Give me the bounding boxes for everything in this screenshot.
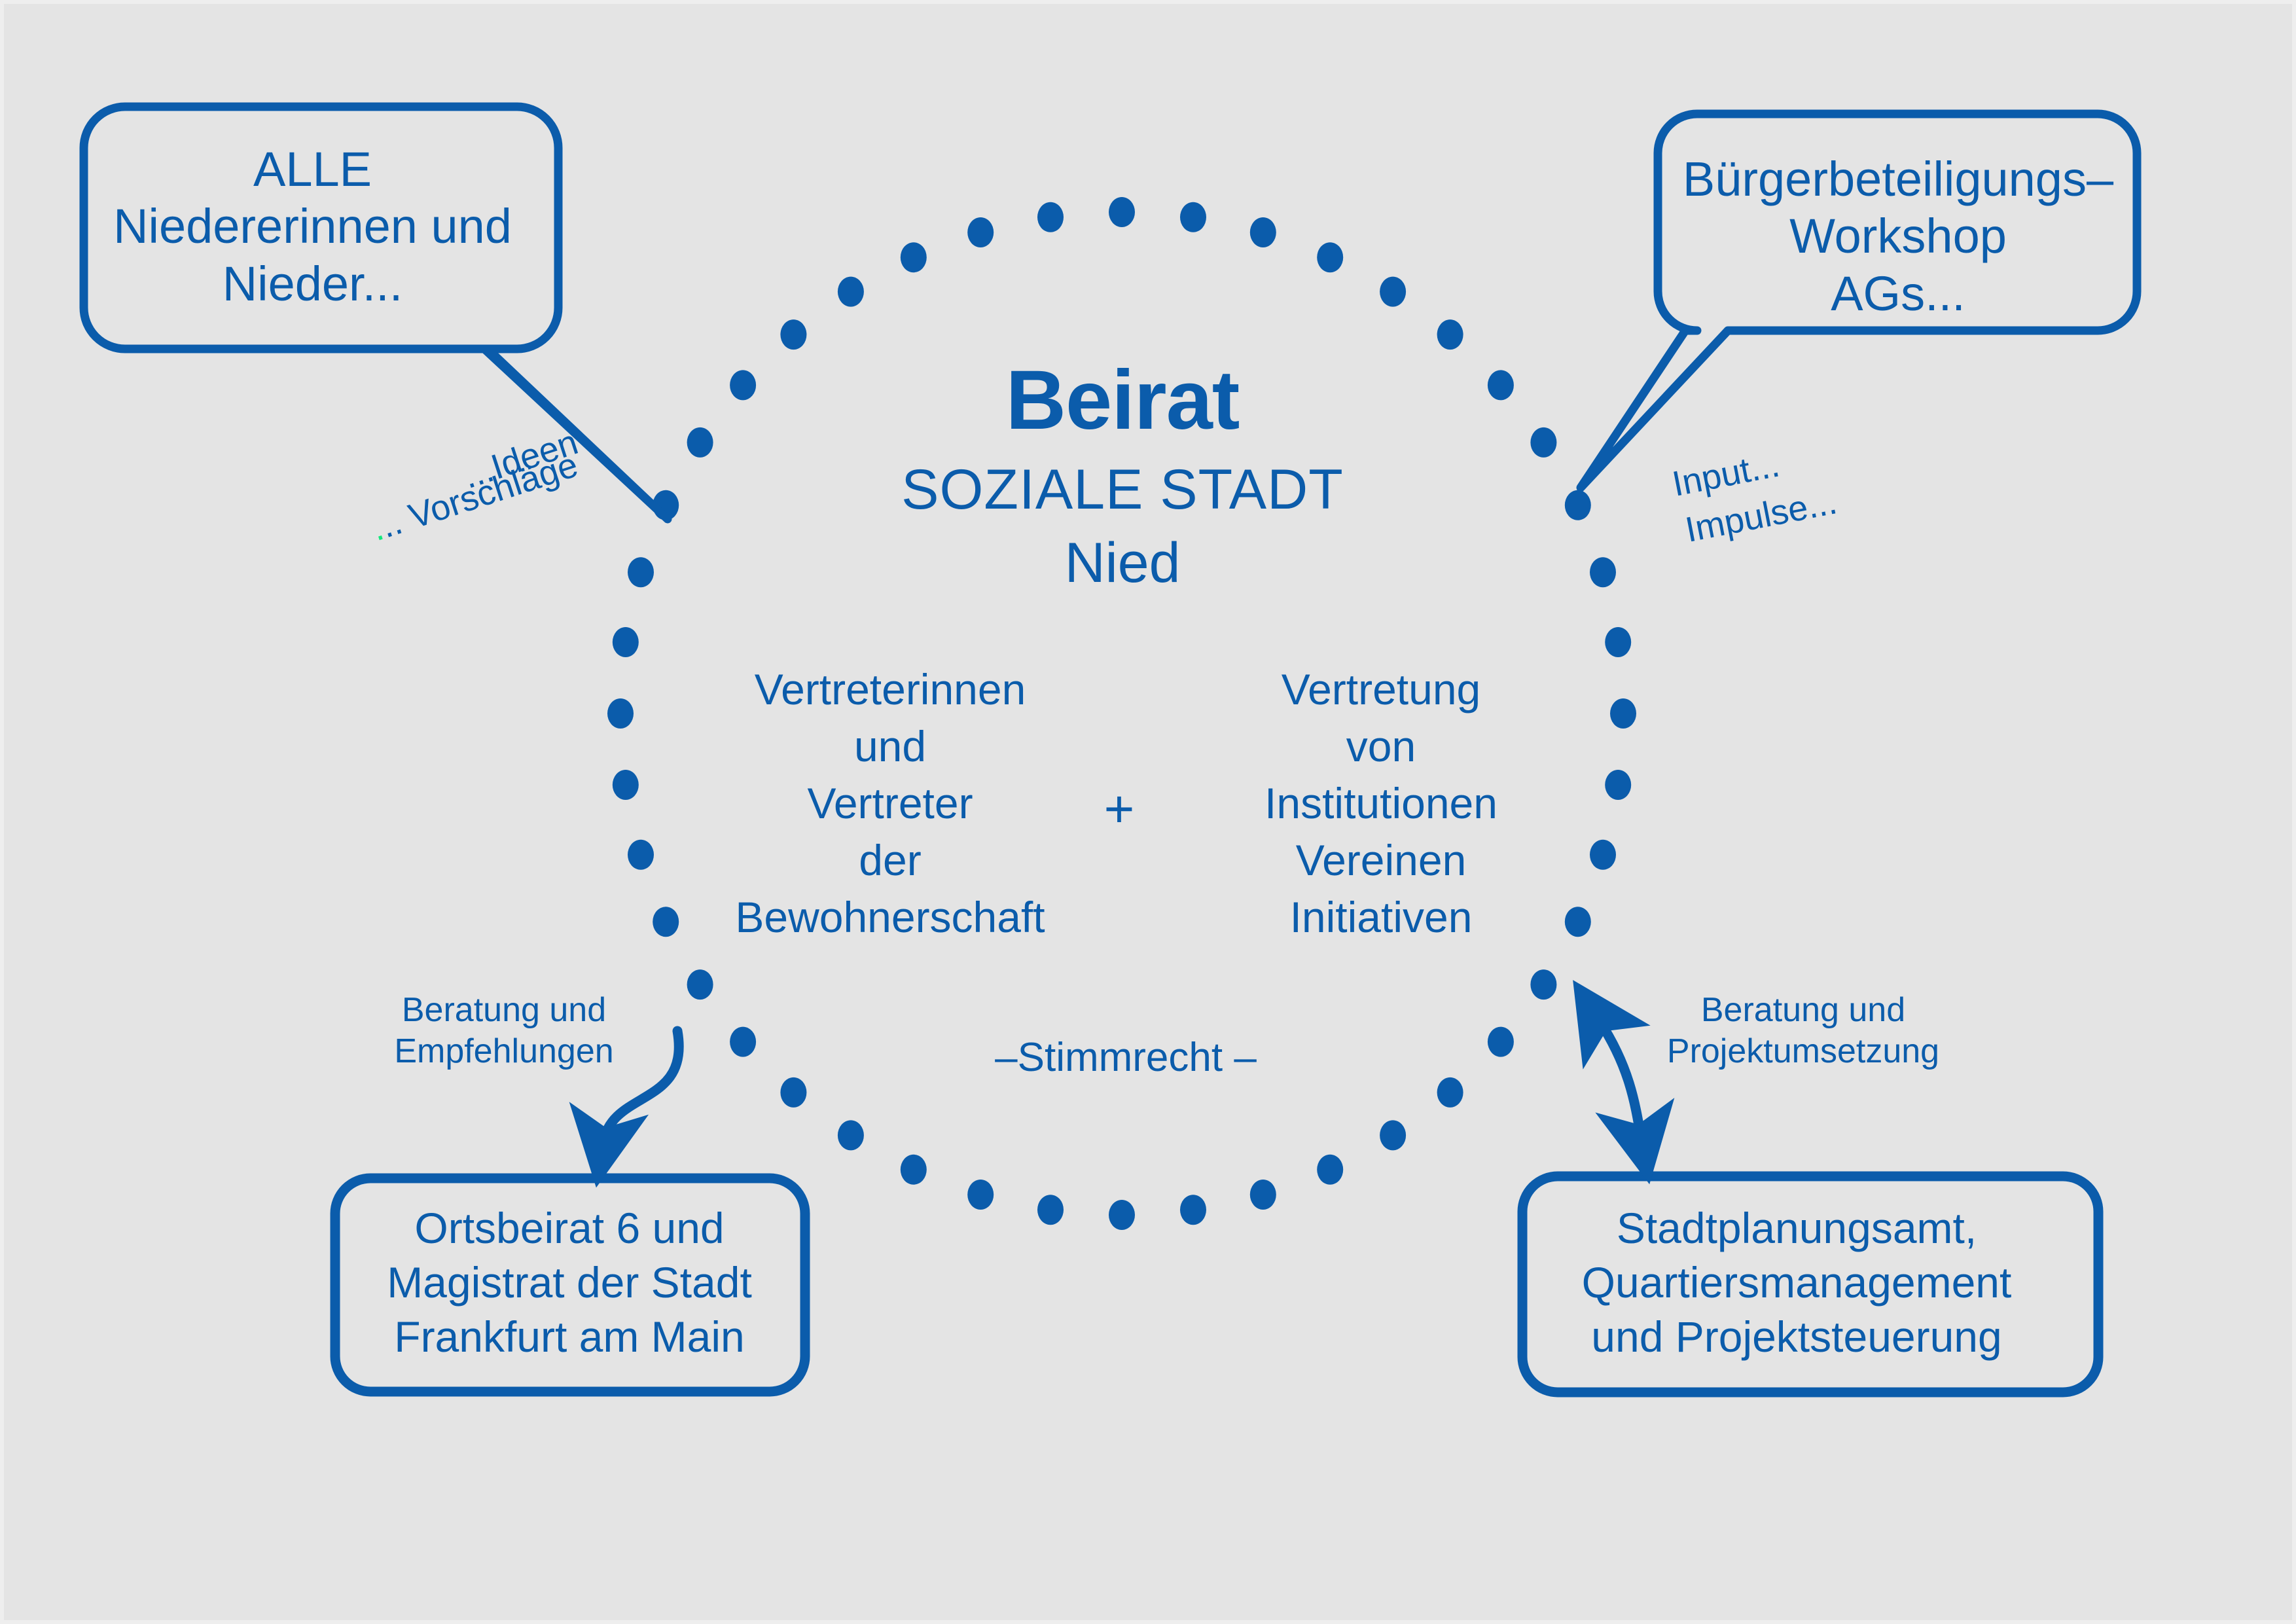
circle-dot (1380, 277, 1406, 307)
voting-rights-note: –Stimmrecht – (903, 1034, 1348, 1081)
box-ortsbeirat-text: Ortsbeirat 6 und Magistrat der Stadt Fra… (340, 1201, 798, 1364)
arrow-beratung-projektumsetzung (1600, 1021, 1644, 1155)
circle-dot (1109, 197, 1135, 227)
col-left-line-3: Vertreter (674, 775, 1106, 832)
circle-dot (1037, 202, 1064, 232)
circle-dot (1437, 1077, 1463, 1108)
ann-br-line-2: Projektumsetzung (1640, 1031, 1967, 1072)
col-right-line-3: Institutionen (1178, 775, 1584, 832)
bubble-tl-line-3: Nieder... (105, 255, 520, 312)
circle-dot (1488, 370, 1514, 400)
bubble-text-top-right: Bürgerbeteiligungs– Workshop AGs... (1676, 151, 2121, 322)
circle-dot (1180, 202, 1206, 232)
subtitle-nied: Nied (795, 532, 1450, 594)
circle-dot (1488, 1027, 1514, 1057)
circle-dot (1180, 1195, 1206, 1225)
box-right-line-2: Quartiersmanagement (1525, 1255, 2068, 1310)
bubble-tr-line-1: Bürgerbeteiligungs– (1676, 151, 2121, 208)
circle-dot (687, 427, 713, 458)
ann-bl-line-2: Empfehlungen (367, 1031, 641, 1072)
box-right-line-1: Stadtplanungsamt, (1525, 1201, 2068, 1255)
circle-dot (1037, 1195, 1064, 1225)
column-bewohnerschaft: Vertreterinnen und Vertreter der Bewohne… (674, 661, 1106, 947)
circle-dot (1317, 242, 1343, 272)
circle-dot (1605, 770, 1631, 800)
box-left-line-3: Frankfurt am Main (340, 1310, 798, 1364)
circle-dot (1530, 969, 1556, 1000)
circle-dot (687, 969, 713, 1000)
circle-dot (1250, 1180, 1276, 1210)
bubble-tl-line-2: Niedererinnen und (105, 198, 520, 255)
column-institutionen: Vertretung von Institutionen Vereinen In… (1178, 661, 1584, 947)
circle-dot (1590, 840, 1616, 870)
circle-dot (628, 840, 654, 870)
col-left-line-1: Vertreterinnen (674, 661, 1106, 718)
col-right-line-4: Vereinen (1178, 832, 1584, 889)
col-left-line-2: und (674, 718, 1106, 775)
bubble-tr-line-3: AGs... (1676, 265, 2121, 322)
bubble-text-top-left: ALLE Niedererinnen und Nieder... (105, 141, 520, 312)
circle-dot (838, 277, 864, 307)
ann-bl-line-1: Beratung und (367, 990, 641, 1031)
annotation-beratung-projektumsetzung: Beratung und Projektumsetzung (1640, 990, 1967, 1073)
plus-sign: + (1080, 779, 1158, 839)
circle-dot (1109, 1200, 1135, 1230)
circle-dot (1250, 217, 1276, 247)
circle-dot (613, 770, 639, 800)
circle-dot (1590, 557, 1616, 587)
circle-dot (1317, 1155, 1343, 1185)
page-title: Beirat (795, 353, 1450, 447)
box-left-line-1: Ortsbeirat 6 und (340, 1201, 798, 1255)
circle-dot (901, 242, 927, 272)
diagram-canvas: ALLE Niedererinnen und Nieder... Bürgerb… (0, 0, 2296, 1624)
circle-dot (1605, 627, 1631, 657)
bubble-tr-line-2: Workshop (1676, 208, 2121, 264)
circle-dot (628, 557, 654, 587)
col-left-line-5: Bewohnerschaft (674, 889, 1106, 946)
circle-dot (967, 1180, 994, 1210)
circle-dot (1565, 490, 1591, 520)
subtitle-soziale-stadt: SOZIALE STADT (795, 458, 1450, 521)
circle-dot (838, 1120, 864, 1150)
circle-dot (1380, 1120, 1406, 1150)
circle-dot (780, 1077, 806, 1108)
annotation-beratung-empfehlungen: Beratung und Empfehlungen (367, 990, 641, 1073)
circle-dot (1437, 319, 1463, 350)
box-stadtplanungsamt-text: Stadtplanungsamt, Quartiersmanagement un… (1525, 1201, 2068, 1364)
circle-dot (780, 319, 806, 350)
circle-dot (607, 698, 634, 729)
circle-dot (1610, 698, 1636, 729)
circle-dot (730, 1027, 756, 1057)
circle-dot (1530, 427, 1556, 458)
circle-dot (967, 217, 994, 247)
col-right-line-2: von (1178, 718, 1584, 775)
circle-dot (730, 370, 756, 400)
bubble-tl-line-1: ALLE (105, 141, 520, 198)
col-right-line-5: Initiativen (1178, 889, 1584, 946)
circle-dot (901, 1155, 927, 1185)
col-right-line-1: Vertretung (1178, 661, 1584, 718)
box-right-line-3: und Projektsteuerung (1525, 1310, 2068, 1364)
col-left-line-4: der (674, 832, 1106, 889)
circle-dot (613, 627, 639, 657)
box-left-line-2: Magistrat der Stadt (340, 1255, 798, 1310)
ann-br-line-1: Beratung und (1640, 990, 1967, 1031)
